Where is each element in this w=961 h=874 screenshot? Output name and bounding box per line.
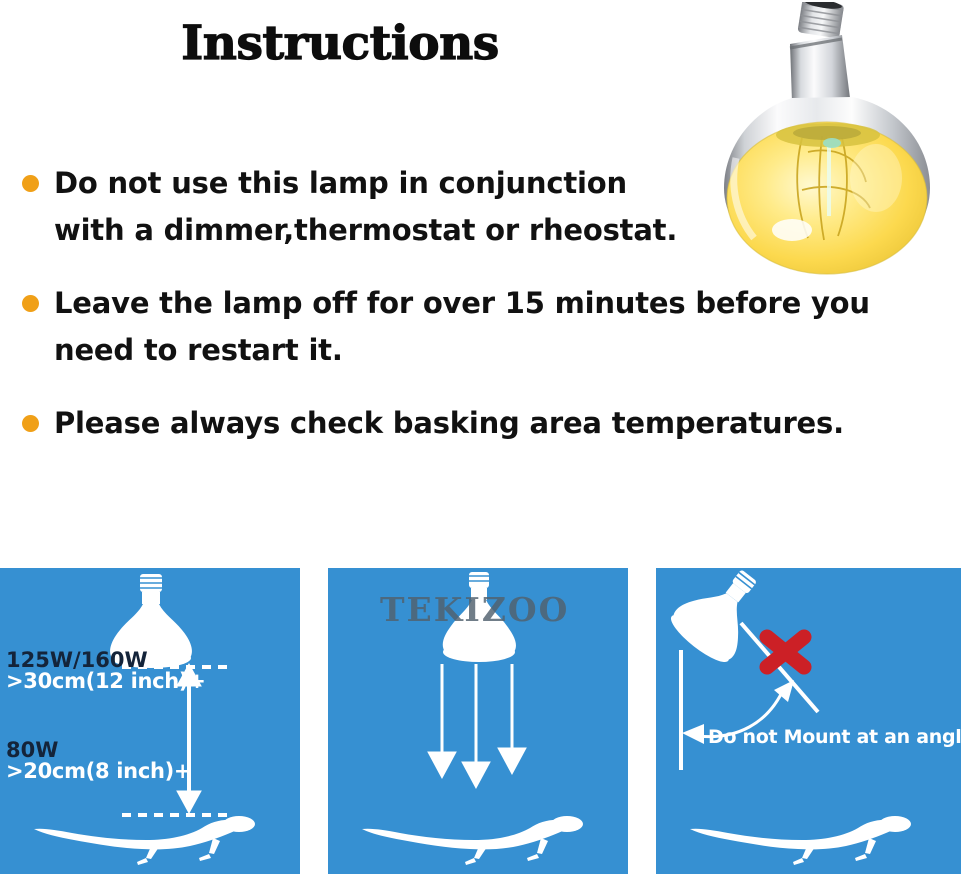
angle-warning-caption: Do not Mount at an angle — [708, 726, 961, 748]
lizard-silhouette-icon — [34, 816, 255, 865]
bullet-dot-icon — [22, 415, 39, 432]
lizard-silhouette-icon — [362, 816, 583, 865]
red-x-icon — [767, 637, 804, 667]
lizard-silhouette-icon — [690, 816, 911, 865]
list-item-text: Leave the lamp off for over 15 minutes b… — [54, 280, 945, 374]
list-item-line: Do not use this lamp in conjunction — [54, 160, 945, 207]
spec-high-wattage: 125W/160W >30cm(12 inch)+ — [6, 650, 206, 693]
list-item-line: Please always check basking area tempera… — [54, 400, 945, 447]
list-item-line: need to restart it. — [54, 327, 945, 374]
straight-mounting-panel: TEKIZOO — [328, 568, 628, 874]
brand-watermark: TEKIZOO — [380, 590, 569, 629]
mounting-distance-panel: 125W/160W >30cm(12 inch)+ 80W >20cm(8 in… — [0, 568, 300, 874]
list-item-text: Please always check basking area tempera… — [54, 400, 945, 447]
list-item: Leave the lamp off for over 15 minutes b… — [0, 280, 945, 374]
spec-distance-label: >20cm(8 inch)+ — [6, 761, 191, 782]
down-arrow-icon — [428, 664, 526, 788]
list-item: Please always check basking area tempera… — [0, 400, 945, 447]
bullet-dot-icon — [22, 175, 39, 192]
bullet-dot-icon — [22, 295, 39, 312]
diagram-panel-group: 125W/160W >30cm(12 inch)+ 80W >20cm(8 in… — [0, 568, 961, 874]
instructions-list: Do not use this lamp in conjunction with… — [0, 160, 945, 473]
instructions-page: Instructions — [0, 0, 961, 874]
spec-distance-label: >30cm(12 inch)+ — [6, 671, 206, 692]
page-title: Instructions — [0, 16, 680, 71]
list-item-line: with a dimmer,thermostat or rheostat. — [54, 207, 945, 254]
spec-wattage-label: 125W/160W — [6, 650, 206, 671]
angled-mounting-warning-panel: Do not Mount at an angle — [656, 568, 961, 874]
list-item-text: Do not use this lamp in conjunction with… — [54, 160, 945, 254]
list-item: Do not use this lamp in conjunction with… — [0, 160, 945, 254]
spec-low-wattage: 80W >20cm(8 inch)+ — [6, 740, 191, 783]
spec-wattage-label: 80W — [6, 740, 191, 761]
list-item-line: Leave the lamp off for over 15 minutes b… — [54, 280, 945, 327]
